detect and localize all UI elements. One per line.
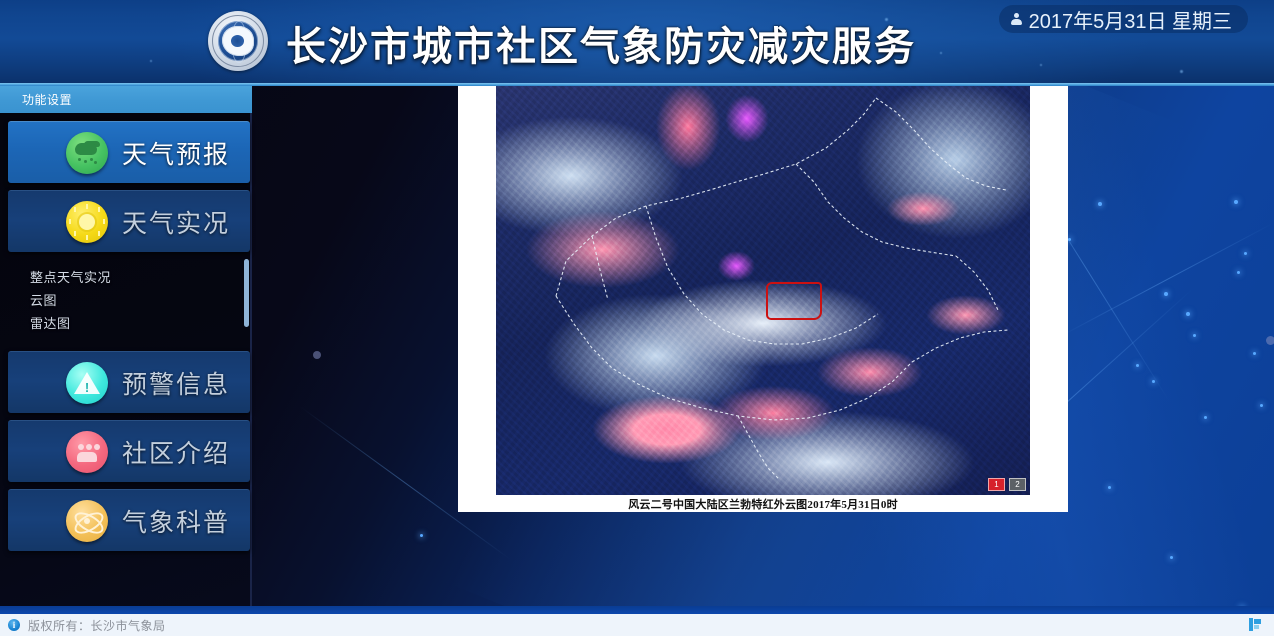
app-root: 长沙市城市社区气象防灾减灾服务 2017年5月31日 星期三	[0, 0, 1274, 636]
sidebar-header-label: 功能设置	[22, 91, 72, 108]
content-panel: 1 2 风云二号中国大陆区兰勃特红外云图2017年5月31日0时	[458, 86, 1068, 512]
sidebar-submenu: 整点天气实况 云图 雷达图	[8, 259, 250, 344]
warning-triangle-icon	[66, 362, 108, 404]
sidebar-item-label: 气象科普	[122, 503, 230, 539]
sidebar-item-label: 社区介绍	[122, 434, 230, 470]
cloud-sun-icon	[66, 132, 108, 174]
sidebar-item-label: 天气预报	[122, 135, 230, 171]
copyright-text: 版权所有：长沙市气象局	[28, 617, 166, 634]
date-text: 2017年5月31日 星期三	[1029, 5, 1232, 34]
image-page-2-button[interactable]: 2	[1009, 478, 1026, 491]
sidebar-header: 功能设置	[0, 86, 252, 113]
submenu-item-label: 整点天气实况	[30, 267, 111, 286]
app-footer: i 版权所有：长沙市气象局	[0, 614, 1274, 636]
coastline-overlay	[496, 86, 1030, 495]
submenu-item-label: 雷达图	[30, 313, 71, 332]
sidebar-item-weather-forecast[interactable]: 天气预报	[8, 121, 250, 183]
submenu-item-radar-map[interactable]: 雷达图	[8, 311, 250, 334]
image-caption: 风云二号中国大陆区兰勃特红外云图2017年5月31日0时	[458, 495, 1068, 512]
submenu-item-hourly-observation[interactable]: 整点天气实况	[8, 265, 250, 288]
people-group-icon	[66, 431, 108, 473]
sidebar-item-label: 天气实况	[122, 204, 230, 240]
submenu-item-label: 云图	[30, 290, 57, 309]
sidebar-item-meteorology-science[interactable]: 气象科普	[8, 489, 250, 551]
app-header: 长沙市城市社区气象防灾减灾服务 2017年5月31日 星期三	[0, 0, 1274, 86]
sidebar-nav: 天气预报 天气实况 整点天气实况 云图 雷达图 预警信息 社区介绍	[8, 121, 250, 558]
submenu-item-cloud-map[interactable]: 云图	[8, 288, 250, 311]
date-display: 2017年5月31日 星期三	[999, 5, 1248, 33]
atom-icon	[66, 500, 108, 542]
sidebar-item-label: 预警信息	[122, 365, 230, 401]
info-icon: i	[8, 619, 20, 631]
page-title: 长沙市城市社区气象防灾减灾服务	[286, 14, 916, 72]
image-page-1-button[interactable]: 1	[988, 478, 1005, 491]
sidebar-item-weather-observation[interactable]: 天气实况	[8, 190, 250, 252]
hunan-province-highlight	[766, 282, 822, 320]
china-meteorological-administration-logo	[208, 11, 268, 71]
sun-icon	[66, 201, 108, 243]
sidebar-item-warning-info[interactable]: 预警信息	[8, 351, 250, 413]
submenu-scrollbar[interactable]	[244, 259, 249, 327]
image-pager: 1 2	[988, 478, 1026, 491]
satellite-image-container[interactable]: 1 2	[496, 86, 1030, 495]
footer-accent-strip	[0, 606, 1274, 614]
user-icon	[1011, 13, 1022, 26]
sidebar-divider	[250, 86, 252, 614]
sidebar-item-community-intro[interactable]: 社区介绍	[8, 420, 250, 482]
panel-toggle-icon[interactable]	[1249, 618, 1262, 631]
